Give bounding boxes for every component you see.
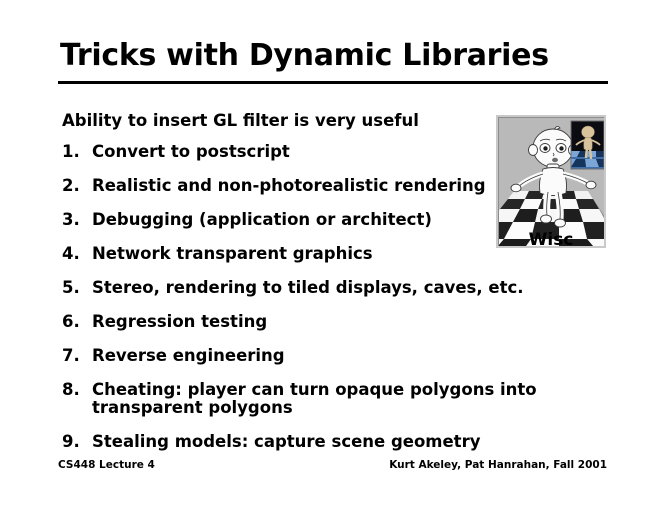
list-item-text: Stereo, rendering to tiled displays, cav… xyxy=(92,279,562,297)
figure-container: Wisc xyxy=(496,115,606,248)
list-item: 6.Regression testing xyxy=(62,313,562,331)
list-item-number: 9. xyxy=(62,433,92,451)
list-item-number: 4. xyxy=(62,245,92,263)
list-item-text: Convert to postscript xyxy=(92,143,562,161)
list-item-number: 1. xyxy=(62,143,92,161)
list-item: 1.Convert to postscript xyxy=(62,143,562,161)
list-item-number: 3. xyxy=(62,211,92,229)
list-item-text: Network transparent graphics xyxy=(92,245,562,263)
list-item-text: Reverse engineering xyxy=(92,347,562,365)
inset-thumbnail xyxy=(571,121,604,169)
list-item-number: 2. xyxy=(62,177,92,195)
page-title: Tricks with Dynamic Libraries xyxy=(60,40,549,72)
list-item: 4.Network transparent graphics xyxy=(62,245,562,263)
list-item: 7.Reverse engineering xyxy=(62,347,562,365)
list-item: 9.Stealing models: capture scene geometr… xyxy=(62,433,562,451)
list-item: 2.Realistic and non-photorealistic rende… xyxy=(62,177,562,195)
lead-statement: Ability to insert GL filter is very usef… xyxy=(62,111,419,131)
list-item: 8.Cheating: player can turn opaque polyg… xyxy=(62,381,562,418)
baby-render-image xyxy=(498,117,604,246)
numbered-list: 1.Convert to postscript2.Realistic and n… xyxy=(62,143,562,467)
list-item-text: Stealing models: capture scene geometry xyxy=(92,433,562,451)
footer-authors: Kurt Akeley, Pat Hanrahan, Fall 2001 xyxy=(389,459,607,471)
list-item: 5.Stereo, rendering to tiled displays, c… xyxy=(62,279,562,297)
list-item-text: Cheating: player can turn opaque polygon… xyxy=(92,381,562,418)
list-item-number: 8. xyxy=(62,381,92,399)
list-item: 3.Debugging (application or architect) xyxy=(62,211,562,229)
list-item-number: 6. xyxy=(62,313,92,331)
list-item-number: 7. xyxy=(62,347,92,365)
list-item-text: Regression testing xyxy=(92,313,562,331)
list-item-text: Realistic and non-photorealistic renderi… xyxy=(92,177,562,195)
slide-canvas: Tricks with Dynamic Libraries Ability to… xyxy=(0,0,660,510)
list-item-number: 5. xyxy=(62,279,92,297)
footer-course: CS448 Lecture 4 xyxy=(58,459,155,471)
list-item-text: Debugging (application or architect) xyxy=(92,211,562,229)
title-divider xyxy=(58,81,608,84)
figure-caption: Wisc xyxy=(498,232,604,248)
